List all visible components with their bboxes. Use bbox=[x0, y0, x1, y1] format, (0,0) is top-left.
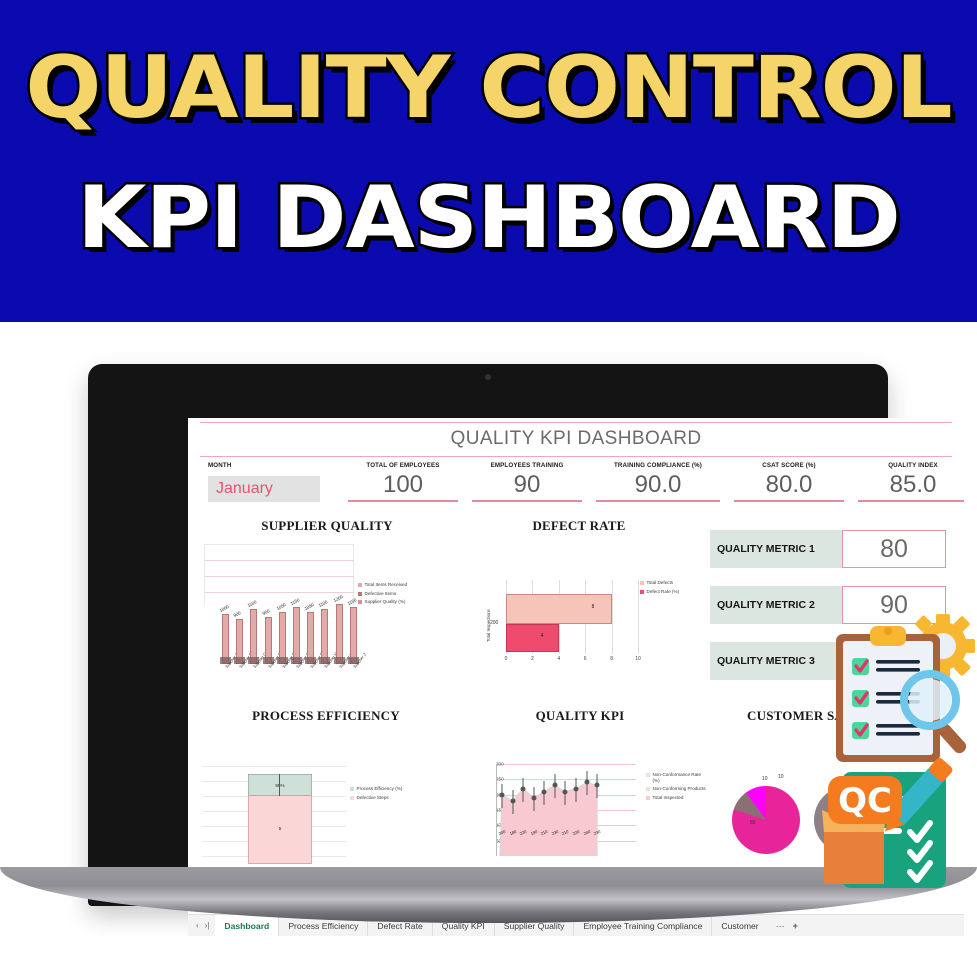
supplier-quality-legend: Total Items Received Defective Items Sup… bbox=[358, 582, 407, 608]
kpi-underline bbox=[348, 500, 458, 502]
legend-label: Process Efficiency (%) bbox=[357, 786, 403, 792]
data-point bbox=[552, 783, 557, 788]
dashboard-title: QUALITY KPI DASHBOARD bbox=[188, 428, 964, 450]
legend-item: Non-Conforming Products bbox=[646, 786, 708, 792]
divider-top bbox=[200, 422, 952, 423]
bar-value-label: 950 bbox=[261, 608, 270, 616]
quality-kpi-legend: Non-Conformance Rate (%) Non-Conforming … bbox=[646, 772, 708, 804]
month-selector[interactable]: January bbox=[208, 476, 320, 502]
laptop-lid: QUALITY KPI DASHBOARD MONTH January TOTA… bbox=[88, 364, 888, 906]
legend-swatch-icon bbox=[358, 600, 362, 604]
legend-item: Process Efficiency (%) bbox=[350, 786, 402, 792]
legend-swatch-icon bbox=[358, 592, 362, 596]
bar-value-label: 900 bbox=[233, 610, 242, 618]
kpi-quality-index: QUALITY INDEX 85.0 bbox=[858, 462, 964, 502]
defect-rate-chart: 024681084200Total Inspections Total Defe… bbox=[464, 536, 704, 640]
bar-value-label: 8 bbox=[592, 604, 595, 610]
error-bar bbox=[279, 774, 280, 796]
legend-label: Defective Steps bbox=[357, 795, 389, 801]
tab-customer[interactable]: Customer bbox=[712, 915, 767, 937]
supplier-quality-chart: 1000Supplier A900Supplier B1100Supplier … bbox=[202, 538, 458, 638]
bar-value-label: 4 bbox=[541, 633, 544, 639]
data-point bbox=[510, 798, 515, 803]
legend-item: Total Defects bbox=[640, 580, 679, 586]
kpi-value: 80.0 bbox=[734, 471, 844, 499]
kpi-csat-score: CSAT SCORE (%) 80.0 bbox=[734, 462, 844, 502]
segment-label: 5 bbox=[249, 826, 311, 831]
legend-item: Defective Steps bbox=[350, 795, 402, 801]
pie-left bbox=[732, 786, 800, 854]
quality-metric-value[interactable]: 80 bbox=[842, 530, 946, 568]
tab-nav-controls: ‹ ›| bbox=[190, 921, 215, 930]
axis-tick-label: 10 bbox=[635, 656, 641, 662]
gridline bbox=[202, 766, 346, 767]
quality-kpi-chart: 5010015020025030020018022019021023021022… bbox=[460, 724, 710, 874]
supplier-bars: 1000Supplier A900Supplier B1100Supplier … bbox=[216, 586, 364, 664]
data-point bbox=[500, 792, 505, 797]
gridline bbox=[204, 560, 354, 561]
gridline bbox=[612, 580, 613, 654]
bar bbox=[336, 604, 343, 664]
bar bbox=[321, 609, 328, 664]
legend-swatch-icon bbox=[640, 590, 644, 594]
process-efficiency-chart: 95%5 Process Efficiency (%) Defective St… bbox=[198, 724, 460, 874]
bar-value-label: 1100 bbox=[247, 599, 258, 608]
data-point bbox=[595, 783, 600, 788]
banner-title-line2: KPI DASHBOARD bbox=[0, 168, 977, 268]
gridline bbox=[204, 576, 354, 577]
legend-label: Non-Conforming Products bbox=[653, 786, 706, 792]
legend-item: Total Items Received bbox=[358, 582, 407, 588]
qc-badge: QC bbox=[828, 776, 902, 824]
legend-item: Defective Items bbox=[358, 591, 407, 597]
month-value: January bbox=[216, 480, 273, 498]
bar-value-label: 1150 bbox=[346, 597, 357, 606]
kpi-value: 90 bbox=[472, 471, 582, 499]
kpi-value: 85.0 bbox=[858, 471, 964, 499]
kpi-underline bbox=[596, 500, 720, 502]
kpi-value: 100 bbox=[348, 471, 458, 499]
banner-title-line1: QUALITY CONTROL bbox=[0, 38, 977, 138]
bar-value-label: 1150 bbox=[290, 597, 301, 606]
supplier-quality-title: SUPPLIER QUALITY bbox=[202, 518, 452, 534]
stack-segment-efficiency: 95% bbox=[248, 774, 312, 796]
segment-label: 95% bbox=[249, 783, 311, 788]
data-point bbox=[573, 786, 578, 791]
data-point bbox=[584, 780, 589, 785]
quality-metric-row-1: QUALITY METRIC 1 80 bbox=[710, 530, 946, 568]
quality-kpi-title: QUALITY KPI bbox=[460, 708, 700, 724]
kpi-underline bbox=[858, 500, 964, 502]
bar-value-label: 1000 bbox=[219, 604, 230, 613]
kpi-month: MONTH bbox=[208, 462, 320, 469]
stack-segment-defective: 5 bbox=[248, 796, 312, 864]
add-sheet-icon[interactable]: + bbox=[793, 921, 798, 931]
legend-label: Defect Rate (%) bbox=[647, 589, 680, 595]
quality-kpi-area: 5010015020025030020018022019021023021022… bbox=[478, 764, 636, 868]
bar-value-label: 1100 bbox=[318, 599, 329, 608]
bar bbox=[250, 609, 257, 664]
bar-total-defects bbox=[506, 594, 612, 624]
process-efficiency-title: PROCESS EFFICIENCY bbox=[198, 708, 454, 724]
legend-swatch-icon bbox=[358, 583, 362, 587]
legend-swatch-icon bbox=[646, 796, 650, 800]
gridline bbox=[638, 580, 639, 654]
qc-badge-text: QC bbox=[838, 781, 892, 821]
axis-tick-label: 4 bbox=[557, 656, 560, 662]
kpi-label: MONTH bbox=[208, 462, 320, 469]
legend-swatch-icon bbox=[646, 773, 650, 777]
axis-tick-label: 6 bbox=[584, 656, 587, 662]
legend-item: Defect Rate (%) bbox=[640, 589, 679, 595]
kpi-total-employees: TOTAL OF EMPLOYEES 100 bbox=[348, 462, 458, 502]
legend-label: Total Items Received bbox=[365, 582, 408, 588]
bar bbox=[350, 607, 357, 665]
axis-tick-label: 8 bbox=[610, 656, 613, 662]
bar bbox=[293, 607, 300, 665]
legend-item: Supplier Quality (%) bbox=[358, 599, 407, 605]
legend-item: Non-Conformance Rate (%) bbox=[646, 772, 708, 783]
tab-dashboard[interactable]: Dashboard bbox=[215, 915, 279, 937]
legend-swatch-icon bbox=[646, 787, 650, 791]
category-label: 200 bbox=[490, 620, 498, 626]
qc-sticker-graphic: QC bbox=[818, 600, 977, 890]
legend-label: Non-Conformance Rate (%) bbox=[653, 772, 709, 783]
kpi-employees-training: EMPLOYEES TRAINING 90 bbox=[472, 462, 582, 502]
kpi-label: QUALITY INDEX bbox=[858, 462, 964, 469]
pie-slice-label: 10 bbox=[762, 776, 768, 782]
kpi-underline bbox=[472, 500, 582, 502]
overflow-icon[interactable]: ··· bbox=[776, 921, 785, 931]
data-point bbox=[531, 795, 536, 800]
kpi-label: CSAT SCORE (%) bbox=[734, 462, 844, 469]
axis-tick-label: 0 bbox=[505, 656, 508, 662]
data-point bbox=[542, 789, 547, 794]
webcam-icon bbox=[485, 374, 491, 380]
legend-item: Total Inspected bbox=[646, 795, 708, 801]
defect-bars: 024681084200Total Inspections bbox=[492, 580, 652, 676]
data-point bbox=[521, 786, 526, 791]
kpi-label: EMPLOYEES TRAINING bbox=[472, 462, 582, 469]
legend-swatch-icon bbox=[350, 787, 354, 791]
legend-swatch-icon bbox=[640, 581, 644, 585]
defect-rate-legend: Total Defects Defect Rate (%) bbox=[640, 580, 679, 597]
tab-extra-controls: ··· + bbox=[768, 921, 806, 931]
title-banner: QUALITY CONTROL KPI DASHBOARD bbox=[0, 0, 977, 322]
kpi-training-compliance: TRAINING COMPLIANCE (%) 90.0 bbox=[596, 462, 720, 502]
kpi-label: TRAINING COMPLIANCE (%) bbox=[596, 462, 720, 469]
legend-swatch-icon bbox=[350, 796, 354, 800]
legend-label: Supplier Quality (%) bbox=[365, 599, 406, 605]
pie-slice-label: 80 bbox=[750, 820, 756, 826]
defect-rate-title: DEFECT RATE bbox=[464, 518, 694, 534]
bar-value-label: 1200 bbox=[332, 594, 343, 603]
pie-slice-label: 10 bbox=[778, 774, 784, 780]
last-sheet-icon[interactable]: ›| bbox=[205, 921, 210, 930]
legend-label: Total Defects bbox=[647, 580, 674, 586]
check-marks-icon bbox=[910, 823, 930, 880]
legend-label: Total Inspected bbox=[653, 795, 684, 801]
bar-value-label: 1050 bbox=[304, 601, 315, 610]
bar-defect-rate bbox=[506, 624, 559, 652]
kpi-value: 90.0 bbox=[596, 471, 720, 499]
kpi-underline bbox=[734, 500, 844, 502]
axis-title: Total Inspections bbox=[486, 609, 491, 642]
bar-value-label: 1050 bbox=[275, 601, 286, 610]
axis-tick-label: 2 bbox=[531, 656, 534, 662]
kpi-label: TOTAL OF EMPLOYEES bbox=[348, 462, 458, 469]
kpi-strip: MONTH January TOTAL OF EMPLOYEES 100 EMP… bbox=[200, 462, 964, 512]
process-bars: 95%5 bbox=[202, 760, 372, 864]
legend-label: Defective Items bbox=[365, 591, 397, 597]
quality-metric-label: QUALITY METRIC 1 bbox=[710, 530, 842, 568]
divider-under-title bbox=[200, 456, 952, 457]
process-efficiency-legend: Process Efficiency (%) Defective Steps bbox=[350, 786, 402, 803]
data-point bbox=[563, 789, 568, 794]
prev-sheet-icon[interactable]: ‹ bbox=[196, 921, 199, 930]
